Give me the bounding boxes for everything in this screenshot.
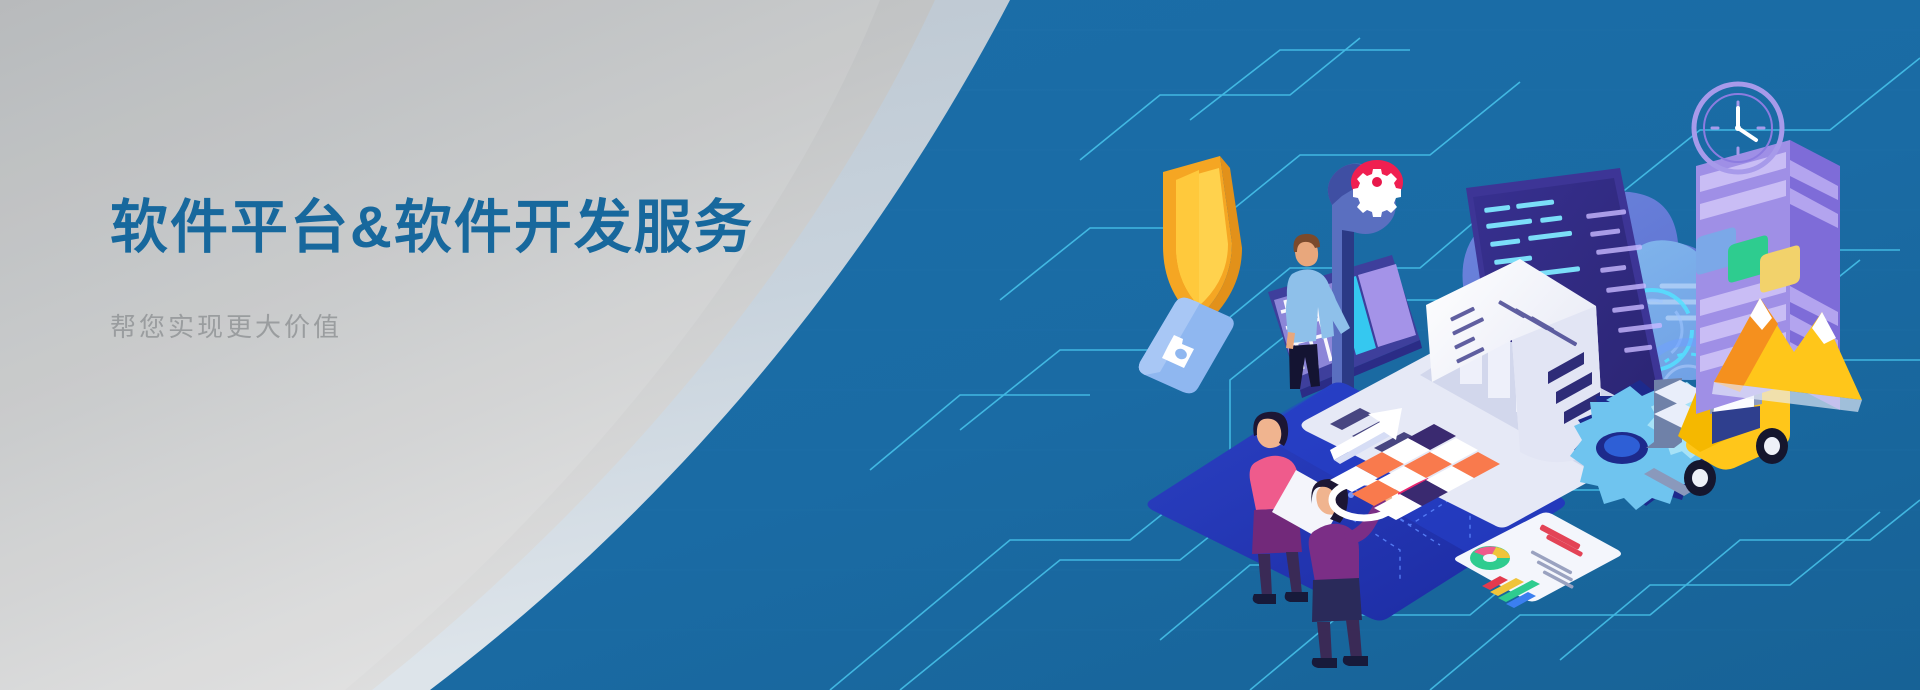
page-title: 软件平台&软件开发服务 bbox=[110, 196, 870, 261]
hero-banner: 软件平台&软件开发服务 帮您实现更大价值 bbox=[0, 0, 1920, 690]
banner-illustration bbox=[0, 0, 1920, 690]
page-subtitle: 帮您实现更大价值 bbox=[110, 311, 870, 345]
hero-copy: 软件平台&软件开发服务 帮您实现更大价值 bbox=[110, 196, 870, 345]
pie-chart-icon bbox=[1470, 546, 1510, 570]
gear-badge-icon bbox=[1351, 160, 1403, 217]
